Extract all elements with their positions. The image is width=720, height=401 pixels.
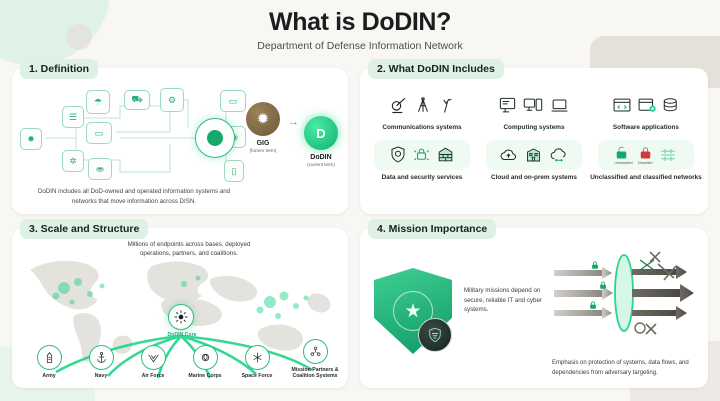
branch-label-mission-partners: Mission Partners & Coalition Systems [284,367,346,381]
network-hub-core [207,130,223,146]
network-node-gear: ⚙ [160,88,184,112]
branch-label-air-force: Air Force [130,373,176,380]
includes-item-computing: Computing systems [478,90,590,133]
server-rack-icon [498,96,517,115]
network-node-mobile: ▯ [224,160,244,182]
branch-mission-partners[interactable]: Mission Partners & Coalition Systems [284,339,346,381]
page-title: What is DoDIN? [0,8,720,37]
includes-label-communications: Communications systems [366,124,478,133]
networks-icons: Unclassified Classified [598,140,694,170]
definition-caption: DoDIN includes all DoD-owned and operate… [26,187,242,206]
locked-icon [638,145,653,160]
scale-note: Millions of endpoints across bases, depl… [124,240,254,259]
header: What is DoDIN? Department of Defense Inf… [0,8,720,52]
antenna-icon [437,95,455,115]
branch-label-navy: Navy [78,373,124,380]
flow-arrows [554,250,700,336]
includes-label-networks: Unclassified and classified networks [590,174,702,183]
includes-grid: Communications systems Com [366,90,702,189]
includes-item-data-security: Data and security services [366,140,478,183]
app-window-icon [637,96,657,115]
unlocked-group: Unclassified [614,145,632,165]
branch-space-force[interactable]: Space Force [234,345,280,380]
lock-node-icon [412,145,431,164]
computing-icons [486,90,582,120]
desktop-tower-icon [522,96,544,115]
network-node-users: ⛂ [88,158,112,180]
emblem-shield-glyph [426,326,444,344]
network-node-satellite: ☂ [86,90,110,114]
includes-item-networks: Unclassified Classified Unclassified a [590,140,702,183]
partners-icon [303,339,328,364]
army-icon [37,345,62,370]
data-center-icon [524,146,543,164]
flow-lock-icon-2 [598,280,608,290]
mission-bottom-note: Emphasis on protection of systems, data … [552,359,700,378]
panel-mission: 4. Mission Importance ★ Military mission… [360,228,708,388]
dodin-sublabel: (current term) [296,162,346,167]
branch-air-force[interactable]: Air Force [130,345,176,380]
database-icon [662,96,680,115]
mission-text: Military missions depend on secure, reli… [464,286,550,315]
dodin-coin-icon: D [304,116,338,150]
marine-corps-icon [193,345,218,370]
network-node-laptop: ▭ [220,90,246,112]
locked-group: Classified [638,145,653,165]
term-conversion: ✹ GIG (former term) → D DoDIN (current t… [244,92,338,184]
includes-label-computing: Computing systems [478,124,590,133]
flow-lock-icon-1 [590,260,600,270]
cyber-emblem-icon [418,318,452,352]
radio-tower-icon [414,95,432,115]
panel-includes: 2. What DoDIN Includes [360,68,708,214]
network-node-monitor: ▭ [86,122,112,144]
dodin-label: DoDIN (current term) [296,154,346,167]
page-subtitle: Department of Defense Information Networ… [0,40,720,52]
code-window-icon [612,96,632,115]
branch-label-army: Army [26,373,72,380]
panel-definition: 1. Definition [12,68,348,214]
gig-coin-icon: ✹ [246,102,280,136]
hybrid-cloud-icon [548,146,569,164]
network-diagram: ✸ ☰ ☂ ✲ ⛟ ⚙ ▭ ⛂ ▭ ◉ ▯ [20,88,250,184]
network-node-vehicle: ⛟ [124,90,150,110]
flow-lock-icon-3 [588,300,598,310]
network-node-server: ☰ [62,106,84,128]
network-hub-node [195,118,235,158]
shield-check-icon [389,145,407,164]
satellite-dish-icon [389,95,409,115]
unclassified-label: Unclassified [614,161,632,165]
laptop-icon [549,96,570,115]
network-lines-icon [658,146,678,164]
firewall-icon [436,145,455,164]
data-flow-diagram [554,250,700,336]
space-force-icon [245,345,270,370]
communications-icons [374,90,470,120]
software-icons [598,90,694,120]
branch-label-space-force: Space Force [234,373,280,380]
gig-sublabel: (former term) [240,148,286,153]
includes-label-data-security: Data and security services [366,174,478,183]
includes-item-software: Software applications [590,90,702,133]
includes-label-software: Software applications [590,124,702,133]
includes-item-cloud: Cloud and on-prem systems [478,140,590,183]
navy-anchor-icon [89,345,114,370]
includes-label-cloud: Cloud and on-prem systems [478,174,590,183]
air-force-icon [141,345,166,370]
dodin-core-node [168,304,194,330]
cloud-upload-icon [498,146,519,164]
branch-marine-corps[interactable]: Marine Corps [182,345,228,380]
classified-label: Classified [638,161,653,165]
gig-label: GIG (former term) [240,140,286,153]
data-security-icons [374,140,470,170]
infographic-page: What is DoDIN? Department of Defense Inf… [0,0,720,401]
network-node-radio: ✲ [62,150,84,172]
branch-navy[interactable]: Navy [78,345,124,380]
panel-scale: 3. Scale and Structure [12,228,348,388]
network-node-hub-left: ✸ [20,128,42,150]
shield-star-glyph: ★ [404,300,421,323]
branch-label-marine-corps: Marine Corps [182,373,228,380]
branch-army[interactable]: Army [26,345,72,380]
unlocked-icon [614,145,632,160]
core-hub-icon [174,310,188,324]
cloud-icons [486,140,582,170]
conversion-arrow-icon: → [288,116,299,128]
includes-item-communications: Communications systems [366,90,478,133]
dodin-core-label: DoDIN Core [158,332,206,338]
